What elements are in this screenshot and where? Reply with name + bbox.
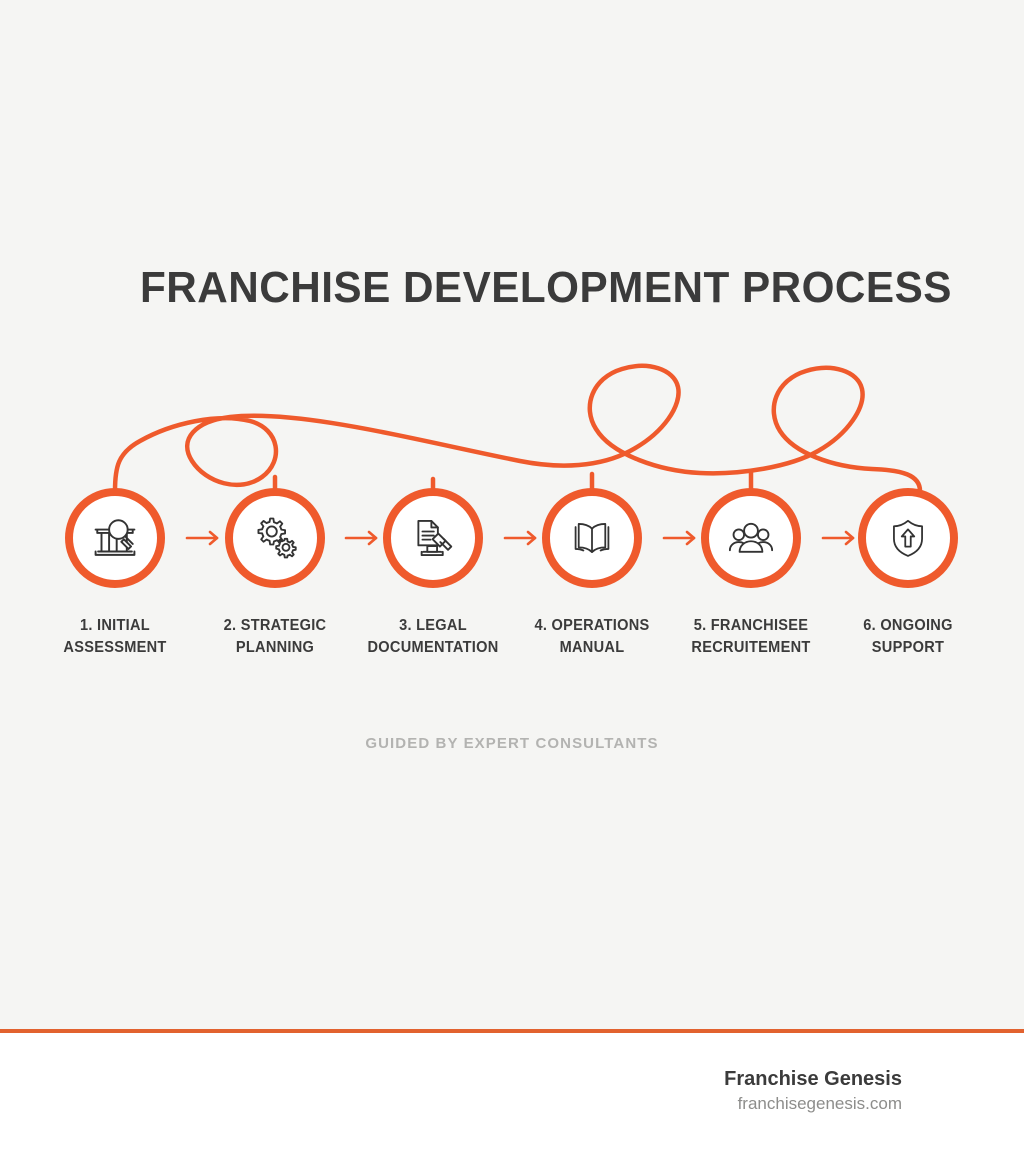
process-step-6[interactable]: 6. ONGOING SUPPORT <box>828 488 988 659</box>
arrow-right-icon <box>821 526 859 550</box>
arrow-right-icon <box>662 526 700 550</box>
people-group-icon <box>725 512 777 564</box>
step-circle-1[interactable] <box>65 488 165 588</box>
step-label-4: 4. OPERATIONS MANUAL <box>517 615 667 659</box>
brand-name: Franchise Genesis <box>724 1067 902 1092</box>
shield-arrow-up-icon <box>883 513 933 563</box>
step-circle-5[interactable] <box>701 488 801 588</box>
page-footer: Franchise Genesis franchisegenesis.com <box>0 1033 1024 1154</box>
process-step-3[interactable]: 3. LEGAL DOCUMENTATION <box>353 488 513 659</box>
step-label-6: 6. ONGOING SUPPORT <box>833 615 983 659</box>
brand-block: Franchise Genesis franchisegenesis.com <box>724 1067 902 1115</box>
open-book-icon <box>567 513 617 563</box>
process-step-5[interactable]: 5. FRANCHISEE RECRUITEMENT <box>671 488 831 659</box>
infographic-canvas: FRANCHISE DEVELOPMENT PROCESS <box>0 0 1024 1029</box>
step-label-1: 1. INITIAL ASSESSMENT <box>40 615 190 659</box>
process-step-2[interactable]: 2. STRATEGIC PLANNING <box>195 488 355 659</box>
step-circle-3[interactable] <box>383 488 483 588</box>
document-gavel-icon <box>407 512 459 564</box>
step-label-3: 3. LEGAL DOCUMENTATION <box>358 615 508 659</box>
step-label-5: 5. FRANCHISEE RECRUITEMENT <box>676 615 826 659</box>
step-circle-2[interactable] <box>225 488 325 588</box>
process-subtitle: GUIDED BY EXPERT CONSULTANTS <box>0 735 1024 752</box>
process-steps: 1. INITIAL ASSESSMENT 2. STRATEGIC PLAN <box>0 488 1024 678</box>
arrow-right-icon <box>185 526 223 550</box>
arrow-right-icon <box>503 526 541 550</box>
step-label-2: 2. STRATEGIC PLANNING <box>200 615 350 659</box>
bank-magnifier-icon <box>88 511 142 565</box>
step-circle-6[interactable] <box>858 488 958 588</box>
arrow-right-icon <box>344 526 382 550</box>
step-circle-4[interactable] <box>542 488 642 588</box>
process-step-4[interactable]: 4. OPERATIONS MANUAL <box>512 488 672 659</box>
process-step-1[interactable]: 1. INITIAL ASSESSMENT <box>35 488 195 659</box>
page-title: FRANCHISE DEVELOPMENT PROCESS <box>140 266 952 310</box>
gears-icon <box>249 512 301 564</box>
brand-url[interactable]: franchisegenesis.com <box>724 1093 902 1115</box>
